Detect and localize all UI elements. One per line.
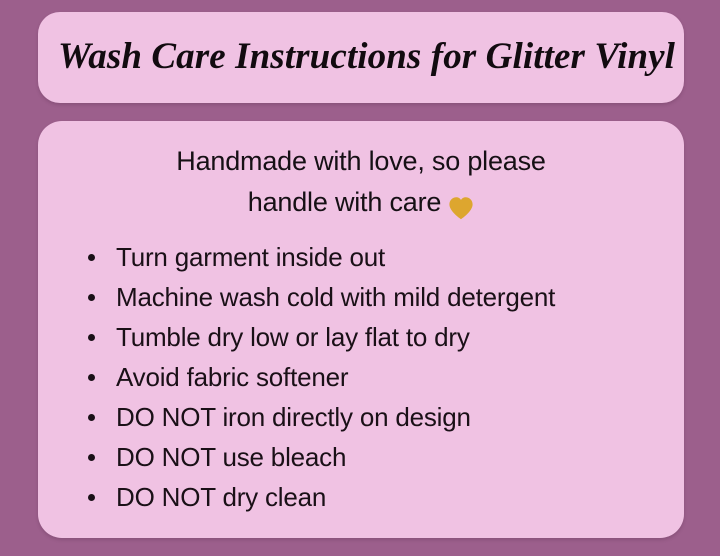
wash-care-poster: Wash Care Instructions for Glitter Vinyl…: [0, 0, 720, 556]
bullet-icon: [88, 454, 95, 461]
subtitle: Handmade with love, so please handle wit…: [58, 139, 664, 223]
list-item: Avoid fabric softener: [86, 357, 664, 397]
bullet-icon: [88, 294, 95, 301]
bullet-icon: [88, 374, 95, 381]
page-title: Wash Care Instructions for Glitter Vinyl: [58, 38, 675, 77]
care-instructions-list: Turn garment inside out Machine wash col…: [58, 237, 664, 517]
list-item: DO NOT use bleach: [86, 437, 664, 477]
bullet-icon: [88, 254, 95, 261]
list-item: DO NOT dry clean: [86, 477, 664, 517]
list-item-label: Machine wash cold with mild detergent: [116, 282, 555, 312]
subtitle-line-1: Handmade with love, so please: [176, 146, 545, 176]
bullet-icon: [88, 334, 95, 341]
subtitle-line-2: handle with care: [248, 182, 441, 223]
yellow-heart-icon: [448, 191, 474, 215]
list-item-label: Turn garment inside out: [116, 242, 385, 272]
bullet-icon: [88, 414, 95, 421]
subtitle-line-2-wrap: handle with care: [248, 182, 474, 223]
bullet-icon: [88, 494, 95, 501]
list-item: Turn garment inside out: [86, 237, 664, 277]
title-card: Wash Care Instructions for Glitter Vinyl: [38, 12, 684, 103]
list-item-label: DO NOT dry clean: [116, 482, 326, 512]
list-item: Tumble dry low or lay flat to dry: [86, 317, 664, 357]
list-item-label: Avoid fabric softener: [116, 362, 348, 392]
list-item-label: Tumble dry low or lay flat to dry: [116, 322, 470, 352]
instructions-card: Handmade with love, so please handle wit…: [38, 121, 684, 538]
list-item-label: DO NOT use bleach: [116, 442, 346, 472]
list-item: DO NOT iron directly on design: [86, 397, 664, 437]
list-item: Machine wash cold with mild detergent: [86, 277, 664, 317]
list-item-label: DO NOT iron directly on design: [116, 402, 471, 432]
